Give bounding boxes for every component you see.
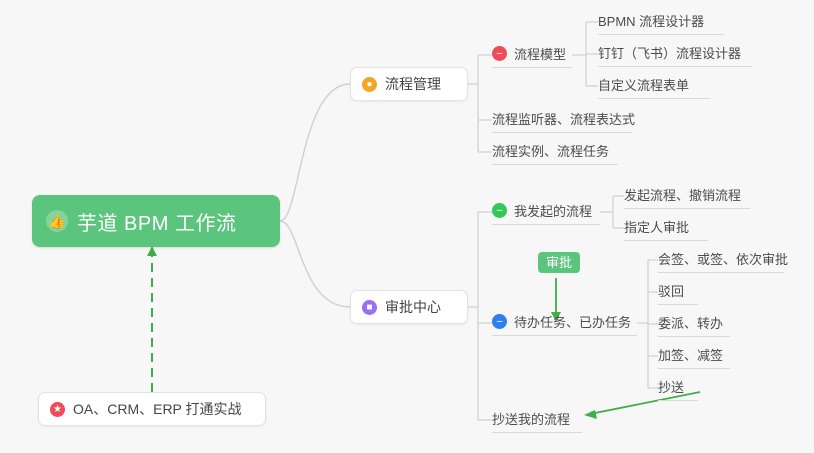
node-dingtalk-designer-label: 钉钉（飞书）流程设计器 <box>598 43 741 62</box>
branch-approval-center-label: 审批中心 <box>385 297 441 317</box>
node-cc-to-me-flows[interactable]: 抄送我的流程 <box>492 407 582 433</box>
node-delegate-transfer-label: 委派、转办 <box>658 313 723 332</box>
node-start-cancel-flow[interactable]: 发起流程、撤销流程 <box>624 183 750 209</box>
node-add-remove-sign-label: 加签、减签 <box>658 345 723 364</box>
node-add-remove-sign[interactable]: 加签、减签 <box>658 343 730 369</box>
node-countersign-label: 会签、或签、依次审批 <box>658 249 788 268</box>
node-assign-approver[interactable]: 指定人审批 <box>624 215 708 241</box>
root-node-label: 芋道 BPM 工作流 <box>77 207 236 236</box>
location-pin-icon: ● <box>362 77 377 92</box>
node-countersign[interactable]: 会签、或签、依次审批 <box>658 247 784 273</box>
minus-circle-icon: – <box>492 46 507 61</box>
mindmap-canvas: 👍 芋道 BPM 工作流 ● 流程管理 ■ 审批中心 ★ OA、CRM、ERP … <box>0 0 814 453</box>
node-dingtalk-designer[interactable]: 钉钉（飞书）流程设计器 <box>598 41 752 67</box>
footnote-node-label: OA、CRM、ERP 打通实战 <box>73 399 242 419</box>
approval-tag[interactable]: 审批 <box>538 252 580 273</box>
approval-tag-label: 审批 <box>546 255 572 270</box>
node-flow-instance-task-label: 流程实例、流程任务 <box>492 141 609 160</box>
node-reject-label: 驳回 <box>658 281 684 300</box>
node-my-started-flows-label: 我发起的流程 <box>514 201 592 220</box>
node-reject[interactable]: 驳回 <box>658 279 698 305</box>
node-todo-done-tasks-label: 待办任务、已办任务 <box>514 312 631 331</box>
node-start-cancel-flow-label: 发起流程、撤销流程 <box>624 185 741 204</box>
branch-flow-management-label: 流程管理 <box>385 74 441 94</box>
root-node[interactable]: 👍 芋道 BPM 工作流 <box>32 195 280 247</box>
star-circle-icon: ★ <box>50 402 65 417</box>
node-flow-listener-expression-label: 流程监听器、流程表达式 <box>492 109 635 128</box>
node-cc-label: 抄送 <box>658 377 684 396</box>
minus-circle-green-icon: – <box>492 203 507 218</box>
footnote-node[interactable]: ★ OA、CRM、ERP 打通实战 <box>38 392 266 426</box>
minus-circle-blue-icon: – <box>492 314 507 329</box>
node-cc-to-me-flows-label: 抄送我的流程 <box>492 409 570 428</box>
node-bpmn-designer-label: BPMN 流程设计器 <box>598 11 704 30</box>
node-custom-form-label: 自定义流程表单 <box>598 75 689 94</box>
node-flow-instance-task[interactable]: 流程实例、流程任务 <box>492 139 618 165</box>
node-bpmn-designer[interactable]: BPMN 流程设计器 <box>598 9 724 35</box>
node-flow-listener-expression[interactable]: 流程监听器、流程表达式 <box>492 107 632 133</box>
node-flow-model[interactable]: – 流程模型 <box>492 42 572 68</box>
branch-flow-management[interactable]: ● 流程管理 <box>350 67 468 101</box>
clipboard-icon: ■ <box>362 300 377 315</box>
node-cc[interactable]: 抄送 <box>658 375 698 401</box>
node-flow-model-label: 流程模型 <box>514 44 566 63</box>
node-delegate-transfer[interactable]: 委派、转办 <box>658 311 730 337</box>
node-todo-done-tasks[interactable]: – 待办任务、已办任务 <box>492 310 637 336</box>
node-custom-form[interactable]: 自定义流程表单 <box>598 73 710 99</box>
node-my-started-flows[interactable]: – 我发起的流程 <box>492 199 600 225</box>
branch-approval-center[interactable]: ■ 审批中心 <box>350 290 468 324</box>
node-assign-approver-label: 指定人审批 <box>624 217 689 236</box>
thumbs-up-icon: 👍 <box>46 210 68 232</box>
